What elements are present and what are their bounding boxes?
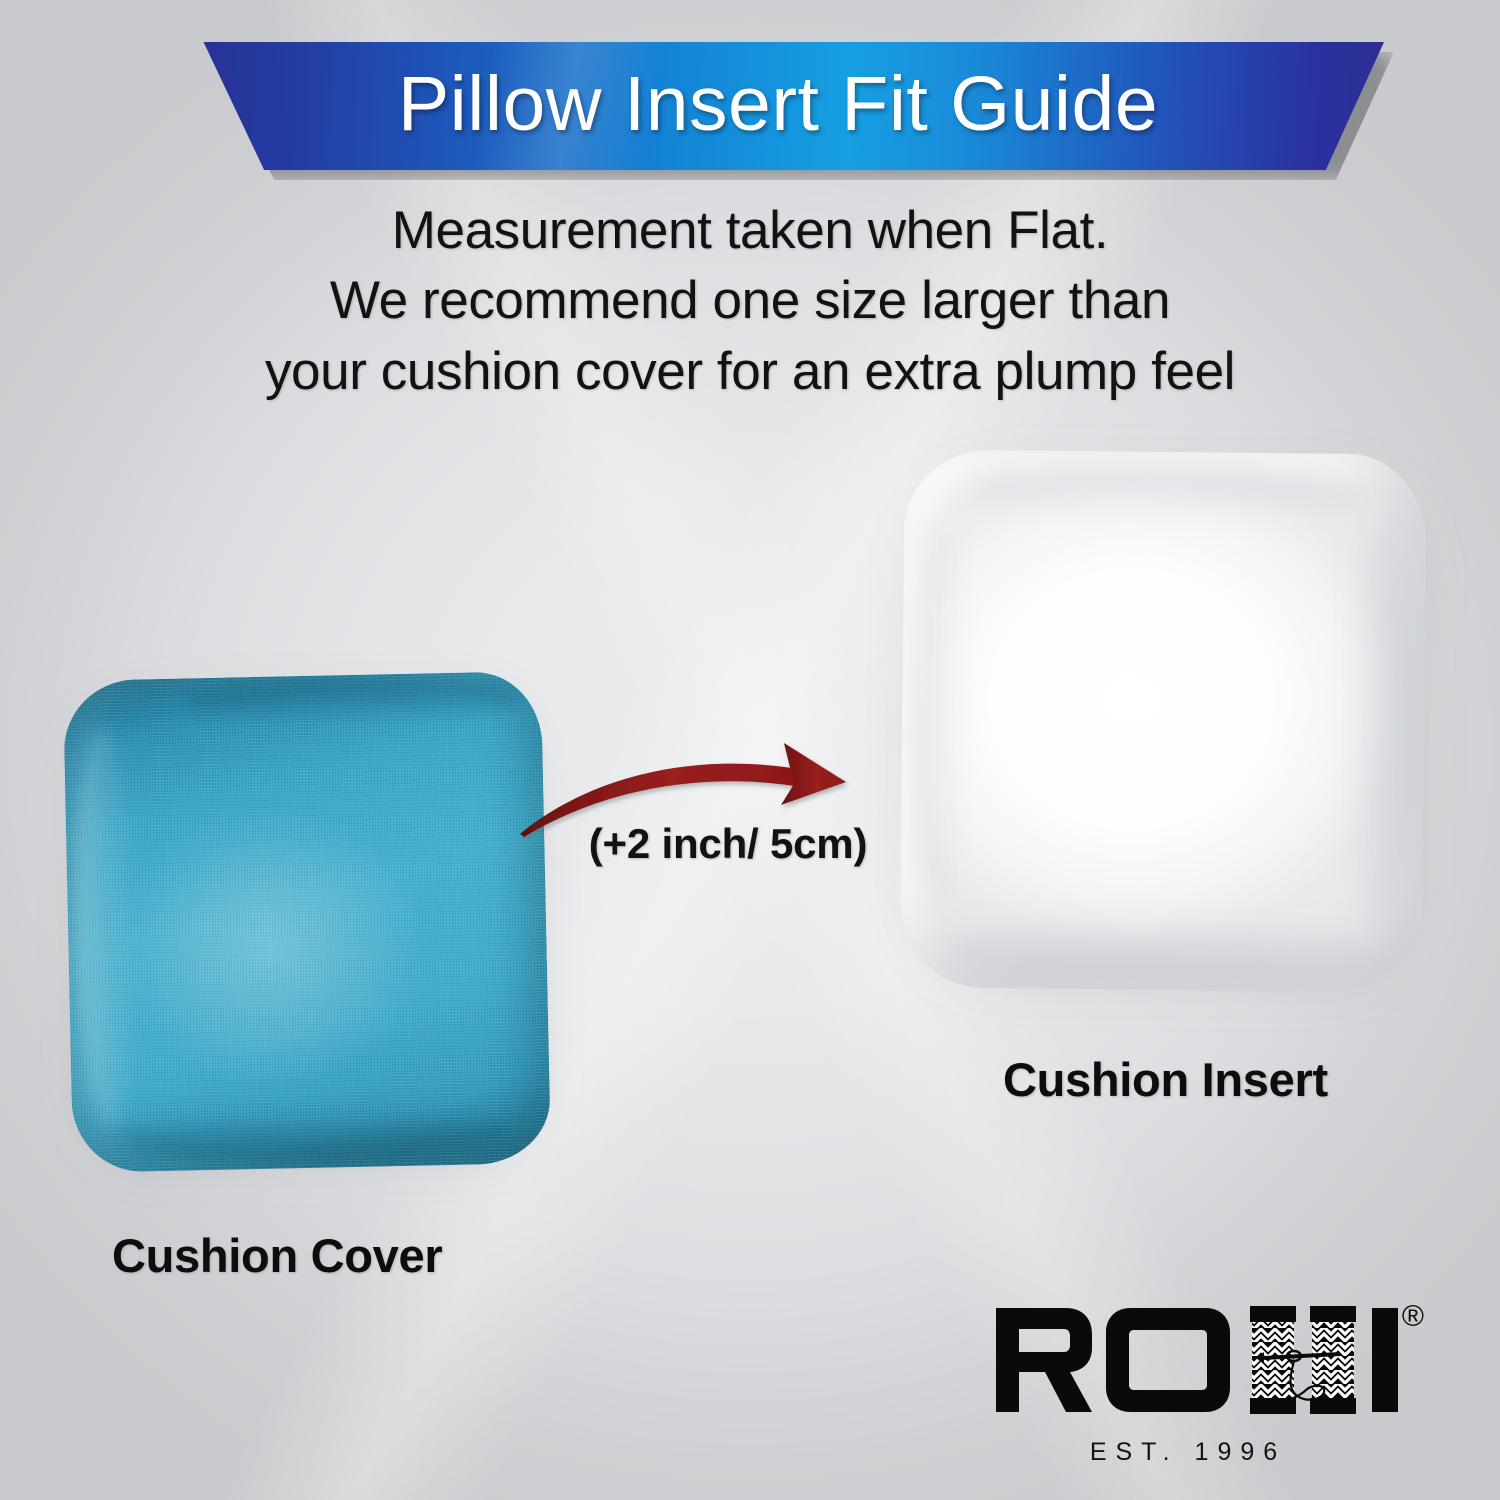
spool-left-thread [1252,1322,1294,1398]
title-banner-body: Pillow Insert Fit Guide [172,42,1384,170]
logo-letter-r [996,1308,1092,1412]
page-title: Pillow Insert Fit Guide [398,66,1158,147]
logo-letter-o [1106,1308,1230,1412]
subtitle-line-2: We recommend one size larger than [0,266,1500,336]
arrow-size-label: (+2 inch/ 5cm) [498,820,958,868]
logo-letter-h-spools [1250,1306,1356,1414]
subtitle-block: Measurement taken when Flat. We recommen… [0,196,1500,407]
spool-right-cap-bottom [1310,1398,1356,1414]
cushion-cover-caption: Cushion Cover [112,1228,442,1283]
rohi-wordmark-icon [988,1300,1428,1420]
cushion-insert-top-fold [964,466,1365,524]
registered-trademark-icon: ® [1402,1302,1424,1332]
subtitle-line-1: Measurement taken when Flat. [0,196,1500,266]
cushion-insert-right-fold [1344,524,1418,925]
cushion-cover-image [63,671,551,1173]
spool-left-cap-top [1250,1306,1296,1322]
cushion-cover-body [63,671,551,1173]
logo-established-text: EST. 1996 [988,1438,1388,1467]
cushion-insert-image [899,449,1427,992]
title-banner: Pillow Insert Fit Guide [172,42,1384,170]
cushion-insert-body [899,449,1427,992]
cushion-insert-bottom-fold [953,916,1364,982]
subtitle-line-3: your cushion cover for an extra plump fe… [0,337,1500,407]
cushion-insert-caption: Cushion Insert [1003,1052,1328,1107]
rohi-brand-logo: ® EST. 1996 [988,1300,1428,1480]
spool-right-cap-top [1310,1306,1356,1322]
logo-letter-i [1372,1308,1398,1412]
pillow-insert-fit-guide-infographic: Pillow Insert Fit Guide Measurement take… [0,0,1500,1500]
